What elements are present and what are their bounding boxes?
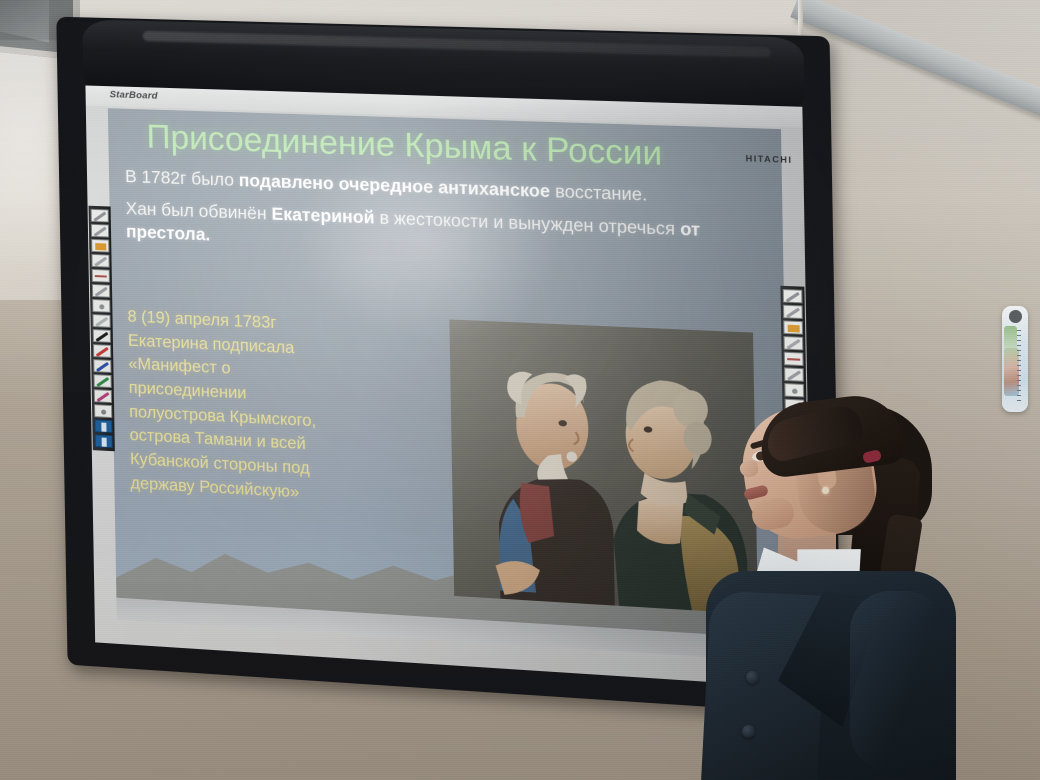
slide-text: Хан был обвинён [125, 198, 271, 224]
presentation-slide[interactable]: Присоединение Крыма к России В 1782г был… [108, 108, 790, 662]
student-figure [700, 395, 1040, 780]
thermometer-scale [1017, 330, 1021, 402]
cardigan-button-2 [742, 725, 755, 738]
door-frame-glass [0, 0, 49, 43]
earring [822, 487, 829, 494]
tool-move-icon[interactable] [783, 305, 803, 319]
tool-select-icon[interactable] [783, 289, 803, 303]
board-toolbar-left[interactable] [89, 206, 115, 452]
tool-blank-icon[interactable] [92, 314, 110, 328]
tool-eraser-icon[interactable] [783, 336, 803, 350]
hitachi-logo: HITACHI [746, 153, 793, 165]
tool-select-icon[interactable] [91, 209, 109, 223]
tool-highlighter-orange-icon[interactable] [91, 239, 109, 253]
slide-text: восстание. [550, 181, 647, 205]
slide-text-bold: Екатериной [271, 203, 374, 227]
shoulder-highlight [850, 591, 946, 771]
tool-arrow-red-icon[interactable] [92, 269, 110, 283]
tool-highlighter-orange-icon[interactable] [783, 320, 803, 334]
board-rail-highlight [143, 31, 771, 58]
tool-shape-icon[interactable] [92, 284, 110, 298]
tool-info-blue-icon[interactable] [94, 419, 112, 433]
tool-magnifier-icon[interactable] [92, 299, 110, 313]
tool-pen-magenta-icon[interactable] [94, 389, 112, 403]
thermometer-hang-hole [1009, 310, 1022, 323]
tool-arrow-red-icon[interactable] [784, 352, 804, 366]
tool-eraser-icon[interactable] [91, 254, 109, 268]
tool-shape-icon[interactable] [784, 367, 804, 381]
starboard-logo: StarBoard [110, 89, 158, 102]
slide-quote-block: 8 (19) апреля 1783гЕкатерина подписала«М… [127, 305, 438, 512]
tool-menu-blue-icon[interactable] [95, 434, 113, 448]
classroom-scene: StarBoard HITACHI Присоединение Крыма к … [0, 0, 1040, 780]
slide-text: В 1782г было [125, 166, 239, 190]
tool-pen-red-icon[interactable] [93, 344, 111, 358]
cardigan-button-1 [746, 671, 759, 684]
slide-text: в жестокости и вынужден отречься [374, 207, 680, 239]
tool-pen-blue-icon[interactable] [93, 359, 111, 373]
tool-stamp-icon[interactable] [94, 404, 112, 418]
tool-move-icon[interactable] [91, 224, 109, 238]
tool-pen-black-icon[interactable] [93, 329, 111, 343]
tool-pen-green-icon[interactable] [93, 374, 111, 388]
